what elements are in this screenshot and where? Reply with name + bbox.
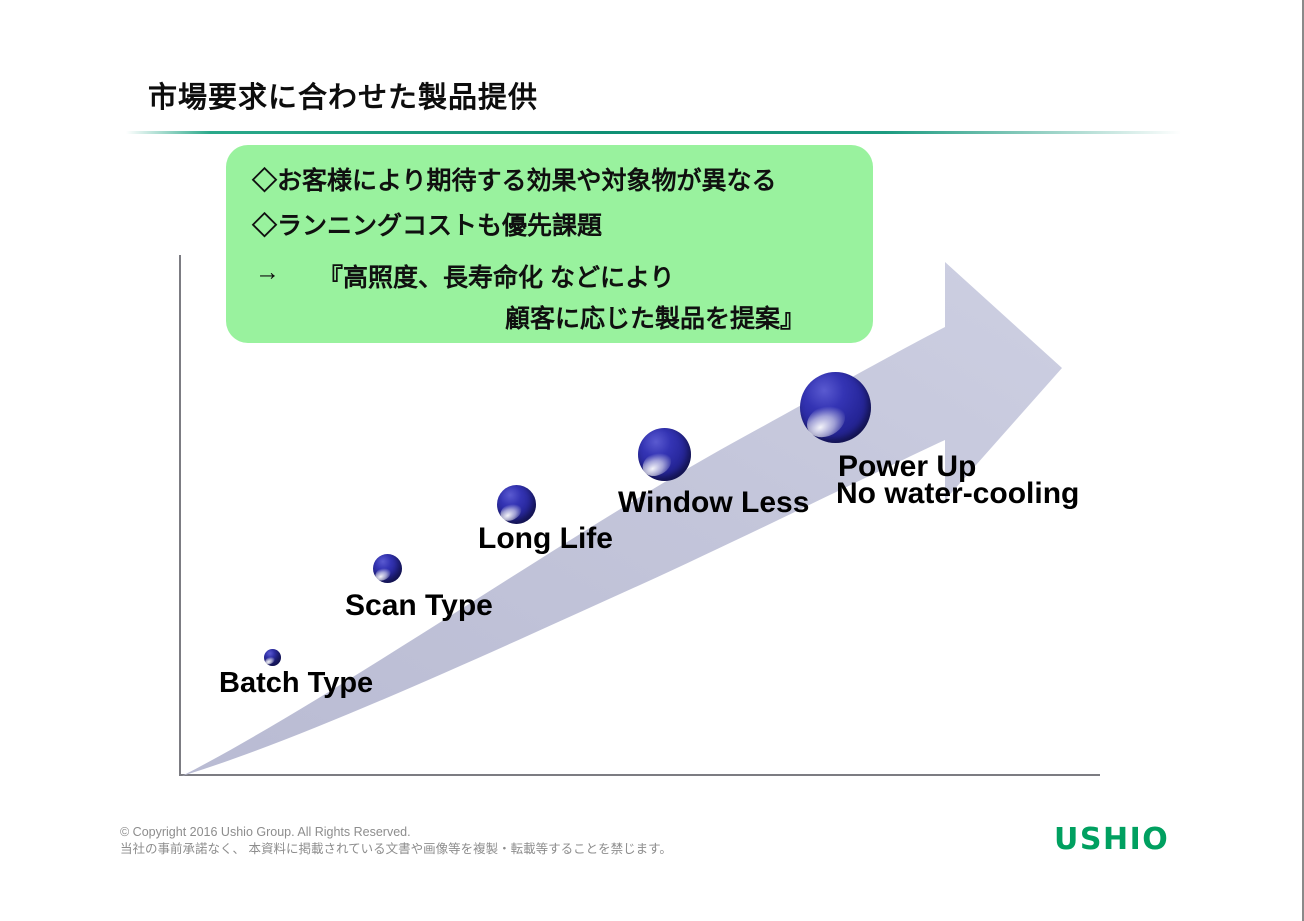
marker-window-less: [638, 428, 691, 481]
ushio-logo: USHIO: [1054, 822, 1169, 857]
label-scan-type: Scan Type: [345, 589, 493, 623]
marker-power-up: [800, 372, 871, 443]
callout-line-1: ◇お客様により期待する効果や対象物が異なる: [252, 161, 777, 197]
footer-copyright-en: © Copyright 2016 Ushio Group. All Rights…: [120, 824, 672, 841]
label-no-water-cooling: No water-cooling: [836, 477, 1079, 511]
label-window-less: Window Less: [618, 486, 809, 520]
callout-line-4: 顧客に応じた製品を提案』: [505, 299, 805, 335]
footer-copyright-ja: 当社の事前承諾なく、 本資料に掲載されている文書や画像等を複製・転載等することを…: [120, 841, 672, 858]
page-title: 市場要求に合わせた製品提供: [148, 74, 538, 116]
slide-canvas: 市場要求に合わせた製品提供 ◇お客様により期待する効果や対象物が異なる ◇ランニ…: [0, 0, 1304, 921]
marker-batch-type: [264, 649, 281, 666]
marker-scan-type: [373, 554, 402, 583]
chart-x-axis: [179, 774, 1100, 776]
footer-copyright: © Copyright 2016 Ushio Group. All Rights…: [120, 824, 672, 858]
callout-line-2: ◇ランニングコストも優先課題: [252, 206, 602, 242]
marker-long-life: [497, 485, 536, 524]
callout-line-3: 『高照度、長寿命化 などにより: [318, 258, 674, 294]
callout-arrow-glyph: →: [255, 258, 280, 287]
label-long-life: Long Life: [478, 522, 613, 556]
chart-y-axis: [179, 255, 181, 776]
label-batch-type: Batch Type: [219, 667, 373, 700]
title-divider: [126, 131, 1181, 134]
